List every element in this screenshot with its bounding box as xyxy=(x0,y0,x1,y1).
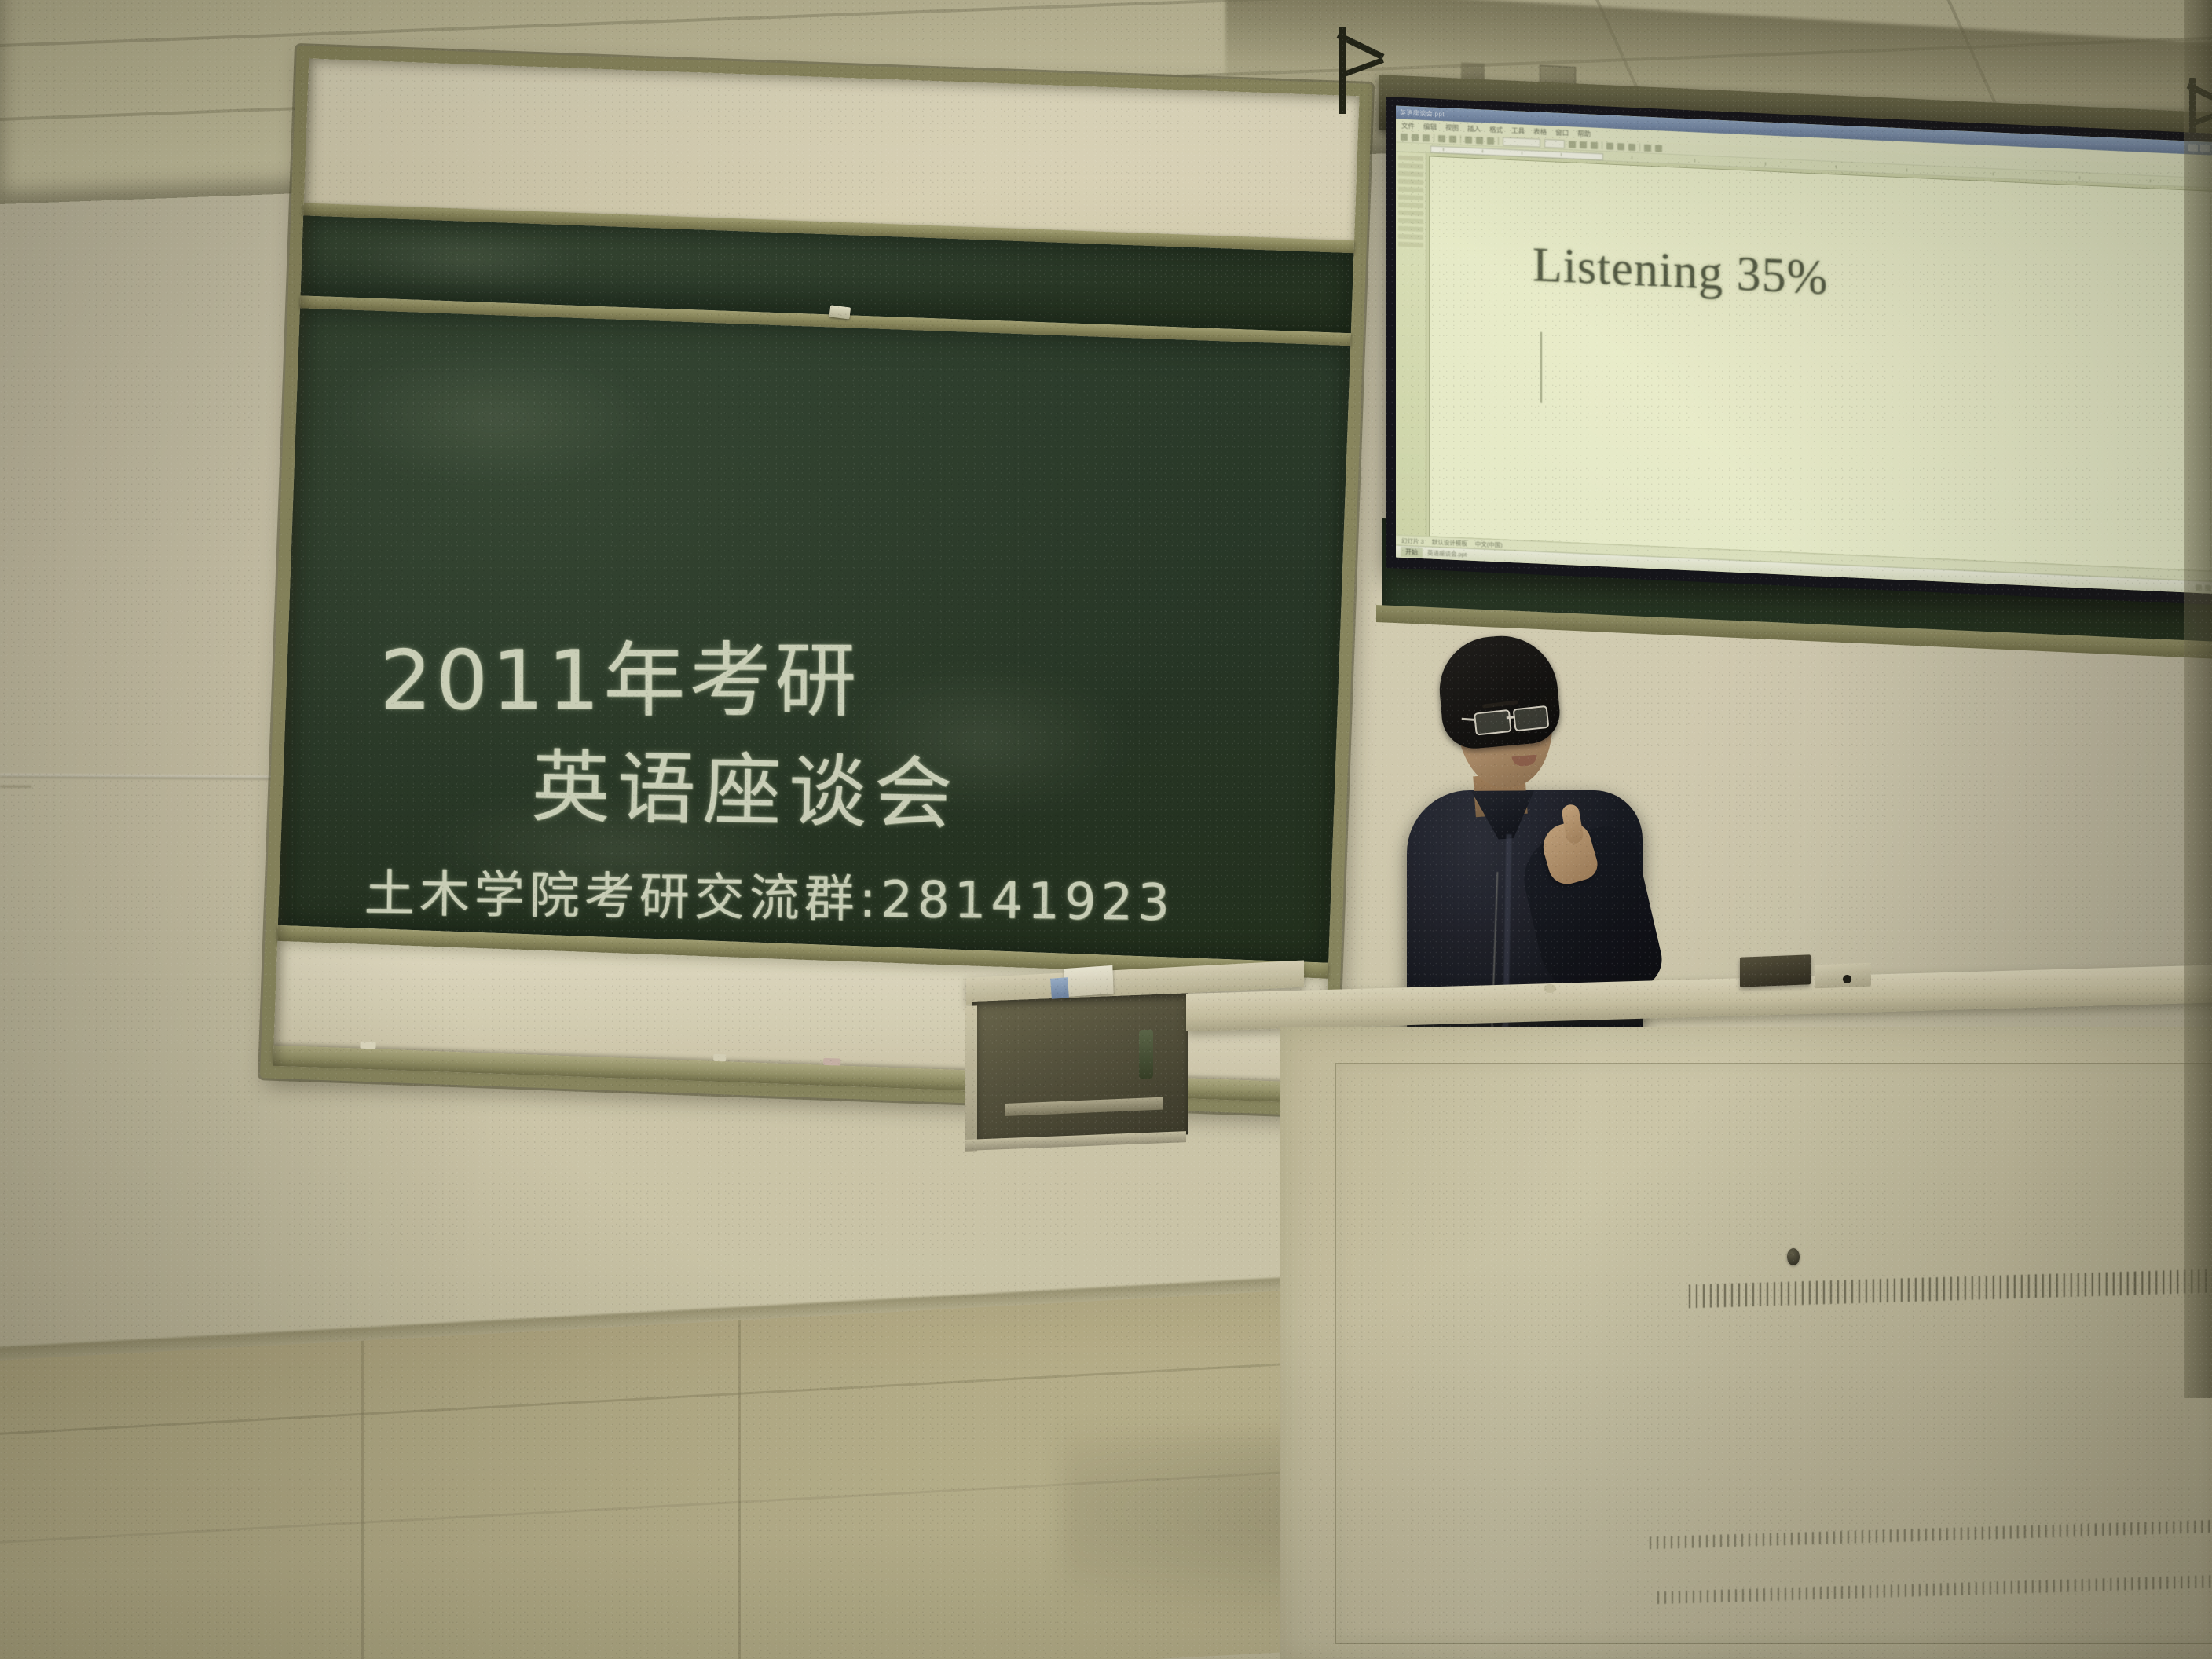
menu-item-edit[interactable]: 编辑 xyxy=(1423,122,1437,132)
blue-folder[interactable] xyxy=(1050,977,1069,998)
slide-canvas[interactable]: Listening 35% xyxy=(1430,156,2212,571)
menu-item-table[interactable]: 表格 xyxy=(1533,126,1547,137)
chalk-line-1: 2011年考研 xyxy=(380,613,861,733)
document-work-area: Listening 35% xyxy=(1396,152,2212,572)
lectern-cabinet xyxy=(1280,1027,2212,1659)
chalk-piece[interactable] xyxy=(829,305,851,319)
wall-trim-seam-edge xyxy=(0,786,31,788)
font-family-combo[interactable] xyxy=(1503,137,1540,147)
status-language: 中文(中国) xyxy=(1475,540,1503,550)
lectern-door-knob[interactable] xyxy=(1787,1248,1800,1265)
right-wall-edge xyxy=(2184,0,2212,1398)
preview-icon[interactable] xyxy=(1449,135,1456,142)
slide-thumbnail-pane[interactable] xyxy=(1396,152,1426,537)
print-icon[interactable] xyxy=(1438,134,1445,141)
lectern-shelf-cavity xyxy=(972,993,1188,1143)
chalkboard: 2011年考研 英语座谈会 土木学院考研交流群:28141923 xyxy=(260,46,1372,1116)
bold-icon[interactable] xyxy=(1569,141,1576,148)
menu-item-help[interactable]: 帮助 xyxy=(1577,128,1591,138)
taskbar-item[interactable]: 英语座谈会.ppt xyxy=(1427,548,1467,558)
help-icon[interactable] xyxy=(1655,145,1662,152)
dark-device[interactable] xyxy=(1740,954,1811,987)
classroom-photo: 2011年考研 英语座谈会 土木学院考研交流群:28141923 xyxy=(0,0,2212,1659)
lectern-door[interactable] xyxy=(1335,1063,2212,1644)
paste-icon[interactable] xyxy=(1487,137,1494,144)
slide-heading: Listening 35% xyxy=(1533,237,1828,306)
chalk-stick[interactable] xyxy=(360,1042,375,1049)
align-center-icon[interactable] xyxy=(1617,143,1624,150)
device-button[interactable] xyxy=(1843,975,1851,983)
zoom-combo-icon[interactable] xyxy=(1644,144,1651,151)
chalkboard-main-surface: 2011年考研 英语座谈会 土木学院考研交流群:28141923 xyxy=(278,308,1350,962)
projected-image: 英语座谈会.ppt 文件 编辑 视图 插入 格式 工具 表格 xyxy=(1396,106,2212,595)
window-title: 英语座谈会.ppt xyxy=(1400,108,1445,119)
font-size-combo[interactable] xyxy=(1544,138,1565,148)
projection-screen-frame: 英语座谈会.ppt 文件 编辑 视图 插入 格式 工具 表格 xyxy=(1386,97,2212,606)
lectern-shelf-handle[interactable] xyxy=(1139,1030,1153,1079)
open-icon[interactable] xyxy=(1412,134,1419,141)
chalk-stick[interactable] xyxy=(823,1058,840,1066)
chalk-line-3: 土木学院考研交流群:28141923 xyxy=(364,853,1174,935)
menu-item-insert[interactable]: 插入 xyxy=(1467,123,1481,134)
lectern xyxy=(1186,986,2212,1659)
chalk-stick[interactable] xyxy=(713,1054,726,1062)
small-item[interactable] xyxy=(1544,984,1556,993)
align-left-icon[interactable] xyxy=(1606,142,1613,149)
copy-icon[interactable] xyxy=(1476,137,1483,144)
paper-sheet[interactable] xyxy=(1064,965,1113,997)
menu-item-view[interactable]: 视图 xyxy=(1445,123,1459,133)
underline-icon[interactable] xyxy=(1591,141,1598,148)
lectern-shelf-edge xyxy=(965,1005,977,1152)
menu-item-file[interactable]: 文件 xyxy=(1401,120,1415,130)
text-caret xyxy=(1540,332,1542,403)
status-slide-number: 幻灯片 3 xyxy=(1401,536,1424,545)
save-icon[interactable] xyxy=(1423,134,1430,141)
menu-item-tools[interactable]: 工具 xyxy=(1511,126,1525,136)
bullets-icon[interactable] xyxy=(1628,143,1635,150)
projection-screen-assembly: 英语座谈会.ppt 文件 编辑 视图 插入 格式 工具 表格 xyxy=(1379,75,2212,546)
start-button[interactable]: 开始 xyxy=(1401,547,1423,558)
chalk-line-2: 英语座谈会 xyxy=(530,723,961,844)
menu-item-window[interactable]: 窗口 xyxy=(1555,127,1569,137)
new-icon[interactable] xyxy=(1401,133,1408,140)
cut-icon[interactable] xyxy=(1465,136,1472,143)
device-panel[interactable] xyxy=(1815,963,1871,989)
menu-item-format[interactable]: 格式 xyxy=(1489,124,1503,134)
italic-icon[interactable] xyxy=(1580,141,1587,148)
